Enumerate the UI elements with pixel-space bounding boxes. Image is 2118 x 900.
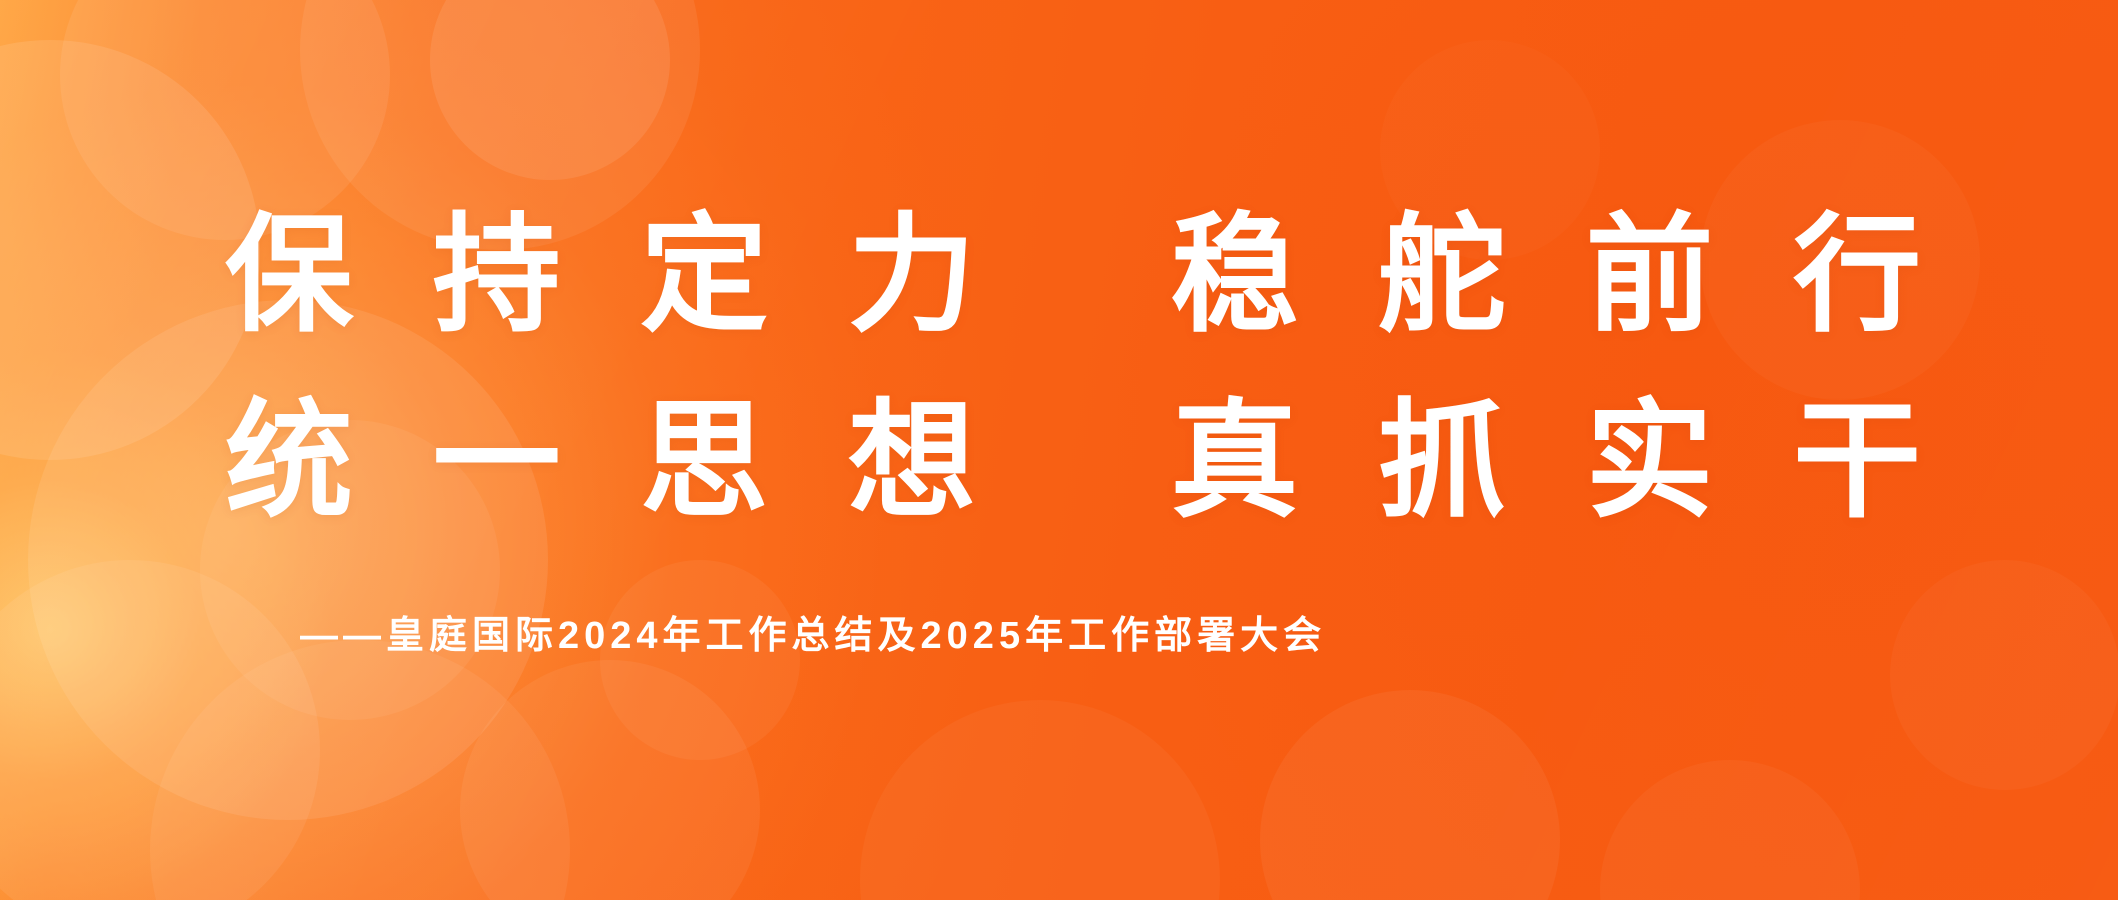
headline-line-1: 保 持 定 力 稳 舵 前 行 bbox=[225, 212, 1943, 340]
banner-content: 保 持 定 力 稳 舵 前 行 统 一 思 想 真 抓 实 干 ——皇庭国际20… bbox=[0, 0, 2118, 900]
banner-subtitle: ——皇庭国际2024年工作总结及2025年工作部署大会 bbox=[300, 614, 1326, 660]
headline-line-2: 统 一 思 想 真 抓 实 干 bbox=[225, 398, 1943, 526]
conference-banner: 保 持 定 力 稳 舵 前 行 统 一 思 想 真 抓 实 干 ——皇庭国际20… bbox=[0, 0, 2118, 900]
